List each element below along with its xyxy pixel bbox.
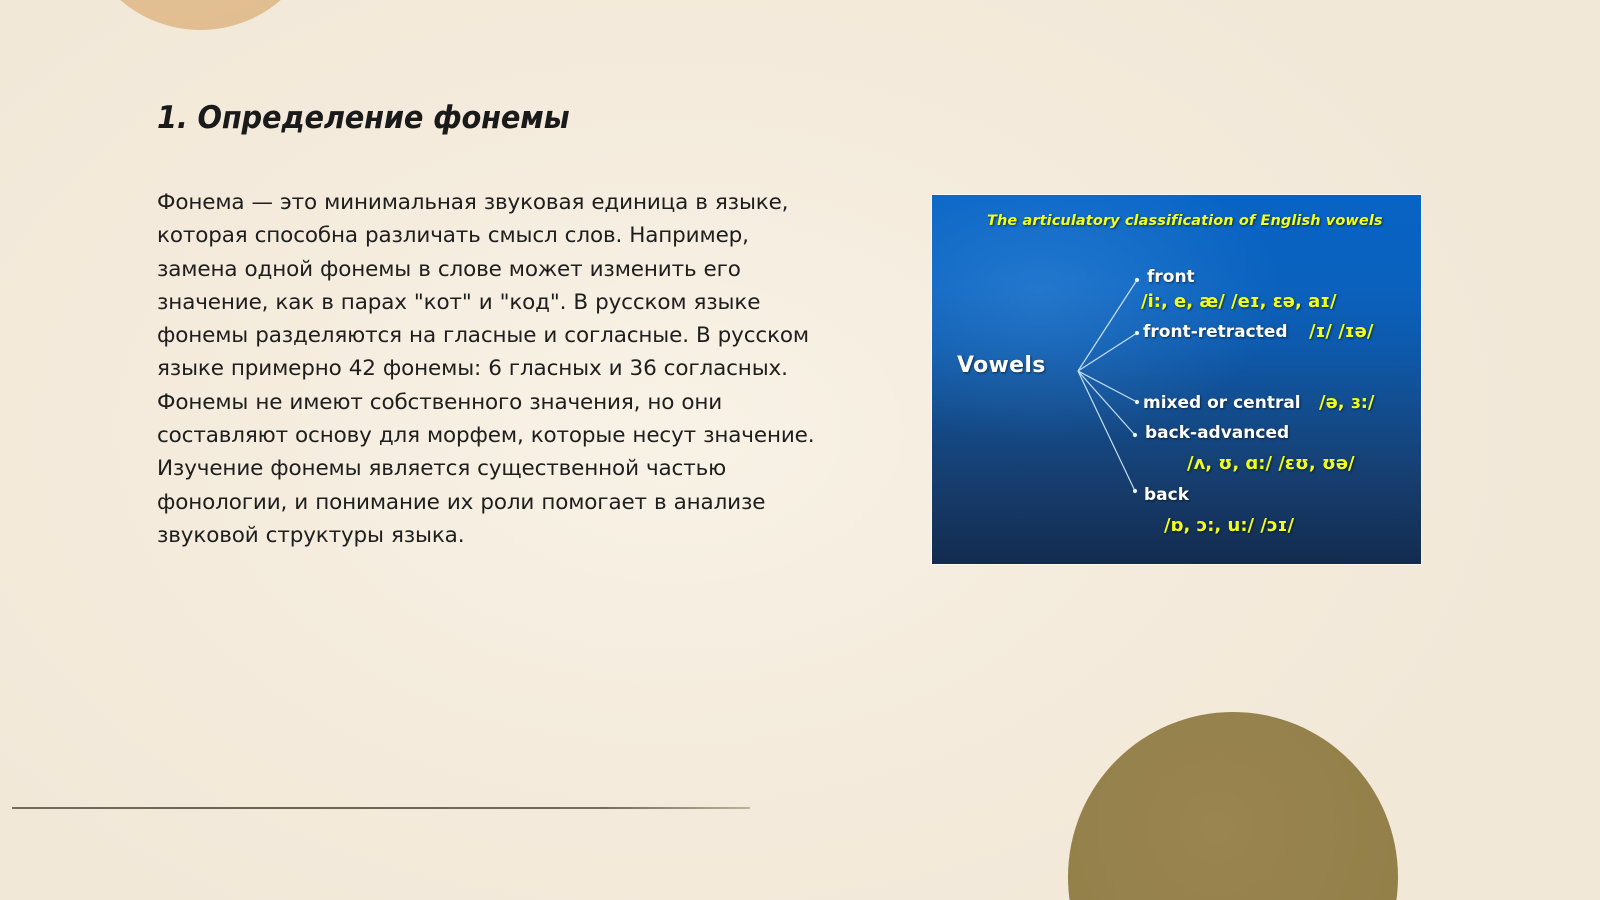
- diagram-branch-ipa-mixed-central: /ə, ɜ:/: [1319, 392, 1374, 413]
- slide-canvas: 1. Определение фонемы Фонема — это миним…: [0, 0, 1600, 900]
- page-title: 1. Определение фонемы: [157, 100, 808, 136]
- diagram-branch-label-front: front: [1147, 267, 1195, 287]
- decorative-circle-top-left: [78, 0, 323, 30]
- footer-divider-line: [12, 807, 750, 809]
- vowel-classification-image: The articulatory classification of Engli…: [932, 195, 1421, 564]
- body-paragraph: Фонема — это минимальная звуковая единиц…: [157, 186, 829, 552]
- diagram-branch-label-front-retracted: front-retracted: [1143, 322, 1288, 342]
- diagram-branch-ipa-back-advanced: /ʌ, ʊ, ɑ:/ /ɛʊ, ʊə/: [1187, 453, 1355, 474]
- decorative-circle-bottom-right: [1068, 712, 1398, 900]
- diagram-branch-ipa-front: /i:, e, æ/ /eɪ, ɛə, aɪ/: [1141, 291, 1337, 312]
- diagram-branch-label-back: back: [1144, 485, 1189, 505]
- branch-lines-graphic: [932, 195, 1421, 564]
- diagram-branch-label-back-advanced: back-advanced: [1145, 423, 1289, 443]
- diagram-branch-ipa-back: /ɒ, ɔ:, u:/ /ɔɪ/: [1164, 515, 1294, 536]
- diagram-root-label: Vowels: [957, 353, 1046, 378]
- diagram-title: The articulatory classification of Engli…: [987, 213, 1383, 229]
- text-column: 1. Определение фонемы Фонема — это миним…: [157, 100, 857, 552]
- diagram-branch-label-mixed-central: mixed or central: [1143, 393, 1301, 413]
- diagram-branch-ipa-front-retracted: /ɪ/ /ɪə/: [1309, 321, 1373, 342]
